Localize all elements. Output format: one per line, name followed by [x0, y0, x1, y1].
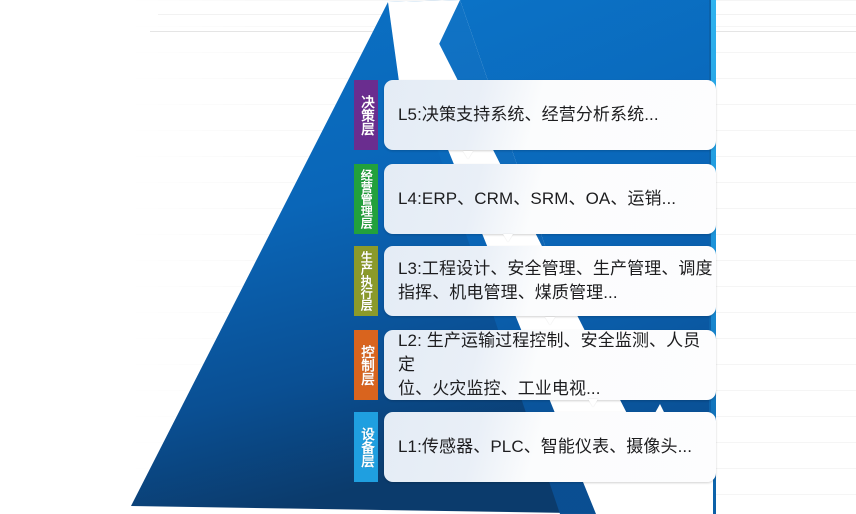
level-separator-arrow-icon — [503, 234, 513, 242]
pyramid-level-L5[interactable]: 决策层 L5:决策支持系统、经营分析系统... — [354, 80, 716, 150]
level-text-L2: L2: 生产运输过程控制、安全监测、人员定 位、火灾监控、工业电视... — [398, 329, 716, 401]
diagram-canvas: 决策层 L5:决策支持系统、经营分析系统... 经营管理层 L4:ERP、CRM… — [0, 0, 856, 514]
level-card-L4[interactable]: L4:ERP、CRM、SRM、OA、运销... — [384, 164, 716, 234]
level-tag-L5: 决策层 — [354, 80, 378, 150]
level-card-L2[interactable]: L2: 生产运输过程控制、安全监测、人员定 位、火灾监控、工业电视... — [384, 330, 716, 400]
level-separator-arrow-icon — [463, 151, 473, 159]
level-rows: 决策层 L5:决策支持系统、经营分析系统... 经营管理层 L4:ERP、CRM… — [0, 0, 856, 514]
level-text-L1: L1:传感器、PLC、智能仪表、摄像头... — [398, 435, 692, 459]
pyramid-level-L4[interactable]: 经营管理层 L4:ERP、CRM、SRM、OA、运销... — [354, 164, 716, 234]
level-tag-L3: 生产执行层 — [354, 246, 378, 316]
level-tag-L4: 经营管理层 — [354, 164, 378, 234]
level-separator-arrow-icon — [545, 317, 555, 325]
level-tag-L2: 控制层 — [354, 330, 378, 400]
pyramid-level-L1[interactable]: 设备层 L1:传感器、PLC、智能仪表、摄像头... — [354, 412, 716, 482]
level-card-L5[interactable]: L5:决策支持系统、经营分析系统... — [384, 80, 716, 150]
level-text-L4: L4:ERP、CRM、SRM、OA、运销... — [398, 187, 676, 211]
level-card-L1[interactable]: L1:传感器、PLC、智能仪表、摄像头... — [384, 412, 716, 482]
pyramid-level-L2[interactable]: 控制层 L2: 生产运输过程控制、安全监测、人员定 位、火灾监控、工业电视... — [354, 330, 716, 400]
level-text-L3: L3:工程设计、安全管理、生产管理、调度 指挥、机电管理、煤质管理... — [398, 257, 713, 305]
level-tag-L1: 设备层 — [354, 412, 378, 482]
level-separator-arrow-icon — [588, 399, 598, 407]
pyramid-level-L3[interactable]: 生产执行层 L3:工程设计、安全管理、生产管理、调度 指挥、机电管理、煤质管理.… — [354, 246, 716, 316]
level-text-L5: L5:决策支持系统、经营分析系统... — [398, 103, 659, 127]
level-card-L3[interactable]: L3:工程设计、安全管理、生产管理、调度 指挥、机电管理、煤质管理... — [384, 246, 716, 316]
